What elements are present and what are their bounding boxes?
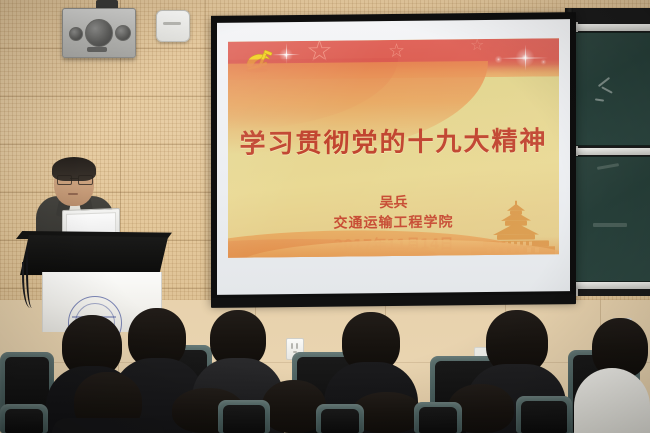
glasses-icon xyxy=(57,175,91,183)
speaker-cone-large xyxy=(85,19,113,47)
speaker-cone-small-left xyxy=(69,27,83,41)
auditorium-seat xyxy=(414,402,462,433)
star-outline-icon: ☆ xyxy=(470,38,484,54)
slide-title: 学习贯彻党的十九大精神 xyxy=(228,120,559,160)
speaker-badge xyxy=(87,47,107,52)
presentation-slide: ☆ ☆ ☆ xyxy=(228,38,559,257)
auditorium-seat xyxy=(316,404,364,433)
audience-shoulders xyxy=(52,418,164,433)
ceiling-speaker xyxy=(62,8,136,58)
podium-desktop xyxy=(20,235,168,275)
auditorium-seat xyxy=(516,396,572,433)
auditorium-seat xyxy=(0,404,48,433)
lecture-hall-photo: ☆ ☆ ☆ xyxy=(0,0,650,433)
blackboard xyxy=(565,8,650,296)
blackboard-panel-upper xyxy=(572,32,650,146)
wireless-access-point xyxy=(156,10,190,42)
projection-screen: ☆ ☆ ☆ xyxy=(211,12,576,304)
auditorium-seat xyxy=(218,400,270,433)
speaker-cone-small-right xyxy=(115,25,131,41)
blackboard-panel-lower xyxy=(572,156,650,282)
